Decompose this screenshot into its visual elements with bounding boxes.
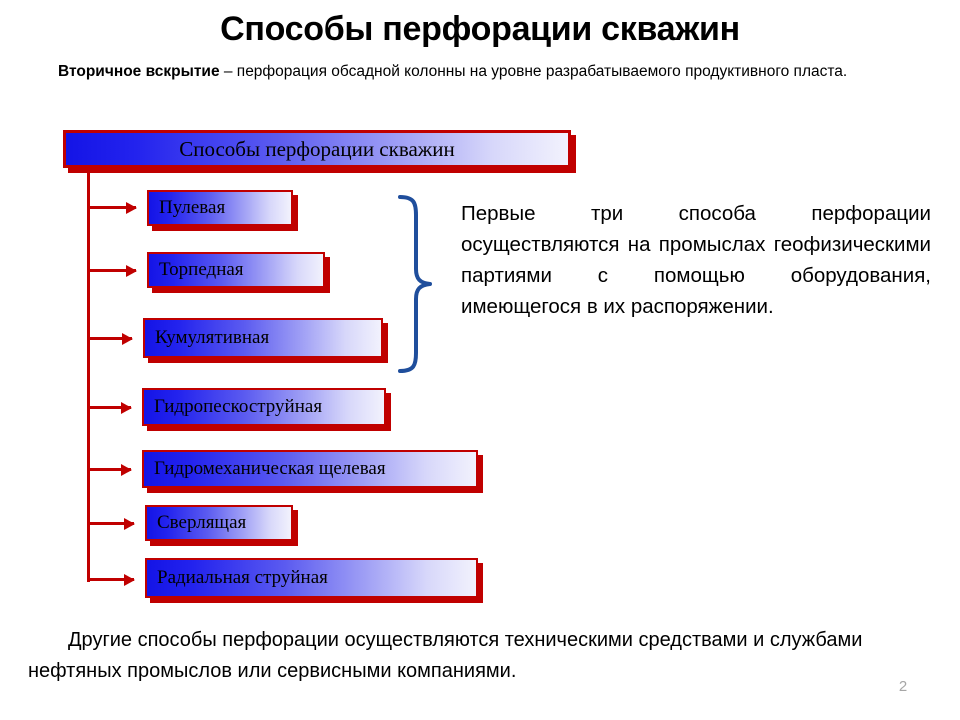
diagram-node-kumulyativnaya[interactable]: Кумулятивная [143, 318, 383, 358]
diagram-node-sverlyaschaya[interactable]: Сверлящая [145, 505, 293, 541]
diagram-node-label: Радиальная струйная [147, 567, 328, 589]
diagram-node-label: Гидромеханическая щелевая [144, 458, 386, 480]
diagram-node-label: Торпедная [149, 259, 244, 281]
diagram-node-radialnaya-struynaya[interactable]: Радиальная струйная [145, 558, 478, 598]
connector-arrow-pulevaya [88, 206, 136, 209]
connector-arrow-kumulyativnaya [88, 337, 132, 340]
connector-arrow-gidromehanicheskaya [88, 468, 131, 471]
diagram-node-gidromehanicheskaya-schelevaya[interactable]: Гидромеханическая щелевая [142, 450, 478, 488]
callout-text: Первые три способа перфорации осуществля… [461, 198, 931, 322]
connector-trunk-line [87, 172, 90, 582]
diagram-node-label: Гидропескоструйная [144, 396, 322, 418]
diagram-root-node[interactable]: Способы перфорации скважин [63, 130, 571, 168]
page-title: Способы перфорации скважин [0, 8, 960, 50]
footer-paragraph: Другие способы перфорации осуществляются… [28, 625, 933, 687]
connector-arrow-torpednaya [88, 269, 136, 272]
diagram-node-label: Пулевая [149, 197, 225, 219]
diagram-node-pulevaya[interactable]: Пулевая [147, 190, 293, 226]
diagram-node-label: Кумулятивная [145, 327, 269, 349]
connector-arrow-radialnaya [88, 578, 134, 581]
curly-brace-icon [396, 193, 442, 375]
subtitle-rest: – перфорация обсадной колонны на уровне … [220, 63, 848, 80]
diagram-node-gidropeskostruynaya[interactable]: Гидропескоструйная [142, 388, 386, 426]
connector-arrow-gidropeskostruynaya [88, 406, 131, 409]
diagram-root-node-label: Способы перфорации скважин [179, 138, 455, 160]
diagram-node-torpednaya[interactable]: Торпедная [147, 252, 325, 288]
subtitle: Вторичное вскрытие – перфорация обсадной… [58, 62, 938, 82]
subtitle-lead: Вторичное вскрытие [58, 63, 220, 80]
diagram-node-label: Сверлящая [147, 512, 246, 534]
slide-number: 2 [888, 678, 918, 695]
connector-arrow-sverlyaschaya [88, 522, 134, 525]
